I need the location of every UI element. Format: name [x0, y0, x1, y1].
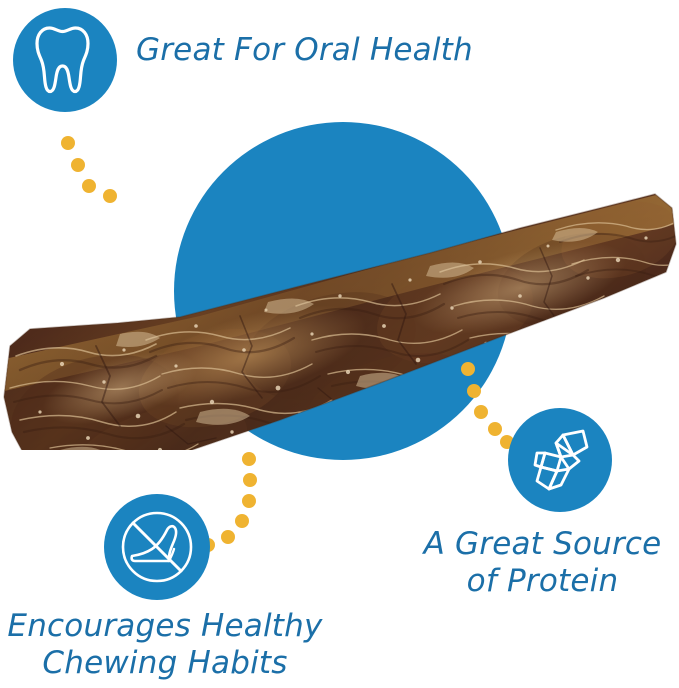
connector-dot: [242, 494, 256, 508]
benefit-label-chewing-habits: Encourages HealthyChewing Habits: [0, 608, 330, 681]
connector-dot: [103, 189, 117, 203]
infographic-canvas: Great For Oral Health Encourages Healthy…: [0, 0, 679, 688]
connector-dot: [474, 405, 488, 419]
connector-dot: [242, 452, 256, 466]
protein-label-line-1: A Great Source: [424, 526, 662, 562]
benefit-badge-chewing-habits[interactable]: [104, 494, 210, 600]
connector-dot: [243, 473, 257, 487]
benefit-label-oral-health: Great For Oral Health: [136, 32, 473, 69]
protein-label-line-2: of Protein: [467, 563, 619, 599]
tooth-icon: [33, 24, 97, 96]
connector-dot: [461, 362, 475, 376]
benefit-label-protein: A Great Sourceof Protein: [406, 526, 679, 599]
connector-dot: [71, 158, 85, 172]
connector-dot: [467, 384, 481, 398]
chew-label-line-2: Chewing Habits: [42, 645, 287, 681]
connector-dot: [82, 179, 96, 193]
dna-protein-icon: [523, 423, 597, 497]
connector-dot: [235, 514, 249, 528]
benefit-badge-oral-health[interactable]: [13, 8, 117, 112]
chew-label-line-1: Encourages Healthy: [7, 608, 322, 644]
no-shoe-chewing-icon: [119, 509, 195, 585]
connector-dot: [221, 530, 235, 544]
benefit-badge-protein[interactable]: [508, 408, 612, 512]
connector-dot: [61, 136, 75, 150]
connector-dot: [488, 422, 502, 436]
